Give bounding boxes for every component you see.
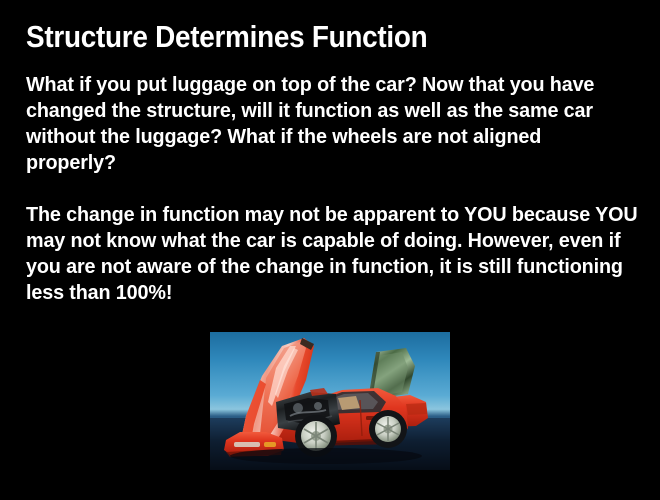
- slide-body: What if you put luggage on top of the ca…: [26, 72, 650, 306]
- rear-wheel: [369, 410, 407, 448]
- paragraph-spacer: [26, 176, 650, 202]
- page-title: Structure Determines Function: [26, 20, 577, 54]
- body-paragraph-1: What if you put luggage on top of the ca…: [26, 72, 628, 176]
- car-illustration: [210, 332, 450, 470]
- slide: Structure Determines Function What if yo…: [0, 0, 660, 500]
- car-photo: [210, 332, 450, 470]
- body-paragraph-2: The change in function may not be appare…: [26, 202, 649, 306]
